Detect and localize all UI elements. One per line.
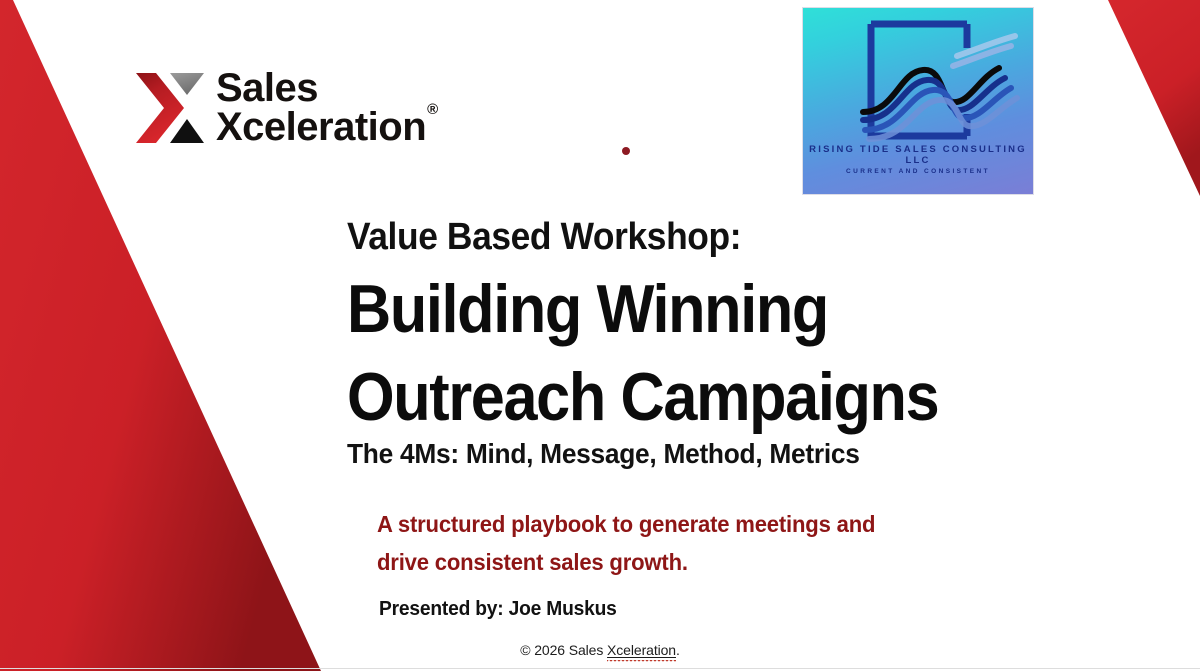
footer-divider <box>0 668 1200 669</box>
copyright-notice: © 2026 Sales Xceleration. <box>0 642 1200 658</box>
top-right-red-triangle <box>1108 0 1200 196</box>
rising-tide-company-name: RISING TIDE SALES CONSULTING LLC <box>803 144 1033 166</box>
sales-xceleration-logo: Sales Xceleration® <box>134 58 434 158</box>
sales-xceleration-mark-icon <box>134 67 206 149</box>
tagline-line-2: drive consistent sales growth. <box>377 543 972 581</box>
tagline-line-1: A structured playbook to generate meetin… <box>377 505 972 543</box>
sales-xceleration-wordmark: Sales Xceleration® <box>216 69 437 147</box>
slide-title-line-2: Outreach Campaigns <box>347 358 938 436</box>
slide-subtitle: The 4Ms: Mind, Message, Method, Metrics <box>347 438 860 470</box>
rising-tide-logo: RISING TIDE SALES CONSULTING LLC CURRENT… <box>803 8 1033 194</box>
rising-tide-wave-icon <box>803 8 1033 156</box>
logo-line-sales: Sales <box>216 69 437 108</box>
logo-line-xceleration-text: Xceleration <box>216 105 426 149</box>
logo-line-xceleration: Xceleration® <box>216 108 437 147</box>
slide-title-line-1: Building Winning <box>347 270 828 348</box>
slide-tagline: A structured playbook to generate meetin… <box>377 505 972 581</box>
copyright-suffix: . <box>676 642 680 658</box>
rising-tide-tagline: CURRENT AND CONSISTENT <box>803 168 1033 175</box>
copyright-misspelled-word: Xceleration <box>607 642 676 658</box>
copyright-prefix: © 2026 Sales <box>520 642 607 658</box>
slide-eyebrow: Value Based Workshop: <box>347 216 741 259</box>
presentation-slide: Sales Xceleration® RISING TIDE SA <box>0 0 1200 671</box>
red-dot-accent <box>622 147 630 155</box>
registered-trademark-icon: ® <box>427 101 438 118</box>
presenter-credit: Presented by: Joe Muskus <box>379 598 617 621</box>
